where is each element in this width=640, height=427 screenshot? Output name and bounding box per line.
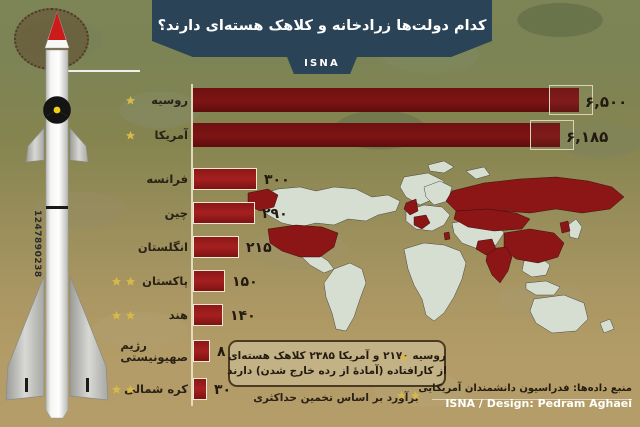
footnote-star-decoration bbox=[398, 352, 409, 363]
bar-1 bbox=[193, 88, 579, 112]
footnote-line-2: از کارافتاده (آمادهٔ از رده خارج شدن) دا… bbox=[227, 365, 447, 377]
nuclear-power-stars-2 bbox=[125, 130, 136, 141]
data-source-label: منبع داده‌ها: فدراسیون دانشمندان آمریکای… bbox=[418, 383, 632, 394]
bar-value-5: ۲۱۵ bbox=[246, 240, 272, 256]
country-label-7: هند bbox=[169, 309, 188, 321]
country-label-6: پاکستان bbox=[142, 275, 188, 287]
footnote-box: روسیه ۲۱۷۰ و آمریکا ۲۳۸۵ کلاهک هسته‌ای ا… bbox=[228, 340, 446, 387]
bar-value-3: ۳۰۰ bbox=[264, 172, 290, 188]
brand-tab: ISNA bbox=[285, 52, 359, 74]
star-icon bbox=[111, 384, 122, 395]
bar-9 bbox=[193, 378, 207, 400]
bar-2 bbox=[193, 123, 560, 147]
country-label-4: چین bbox=[165, 207, 188, 219]
world-map bbox=[238, 157, 640, 337]
missile-illustration: 1247890238 bbox=[0, 0, 115, 427]
country-label-5: انگلستان bbox=[138, 241, 188, 253]
bar-4 bbox=[193, 202, 255, 224]
star-icon bbox=[111, 276, 122, 287]
country-label-2: آمریکا bbox=[154, 129, 188, 141]
bar-6 bbox=[193, 270, 225, 292]
bar-value-4: ۲۹۰ bbox=[262, 206, 288, 222]
bar-3 bbox=[193, 168, 257, 190]
estimate-star-decoration bbox=[396, 390, 421, 401]
nuclear-power-stars-9 bbox=[111, 384, 136, 395]
nuclear-power-stars-1 bbox=[125, 95, 136, 106]
star-icon bbox=[111, 310, 122, 321]
star-icon bbox=[125, 276, 136, 287]
credits: منبع داده‌ها: فدراسیون دانشمندان آمریکای… bbox=[418, 383, 632, 410]
bar-8 bbox=[193, 340, 210, 362]
country-label-3: فرانسه bbox=[146, 173, 188, 185]
bar-5 bbox=[193, 236, 239, 258]
nuclear-power-stars-7 bbox=[111, 310, 136, 321]
star-icon bbox=[125, 95, 136, 106]
credits-divider bbox=[432, 399, 632, 400]
infographic-root: 1247890238 کدام دولت‌ها زرادخانه و کلاهک… bbox=[0, 0, 640, 427]
bar-value-6: ۱۵۰ bbox=[232, 274, 258, 290]
bar-value-7: ۱۴۰ bbox=[230, 308, 256, 324]
footnote-line-1: روسیه ۲۱۷۰ و آمریکا ۲۳۸۵ کلاهک هسته‌ای bbox=[228, 350, 446, 362]
bar-7 bbox=[193, 304, 223, 326]
bar-value-2: ۶,۱۸۵ bbox=[566, 128, 608, 146]
nuclear-power-stars-6 bbox=[111, 276, 136, 287]
star-icon bbox=[125, 310, 136, 321]
bar-value-1: ۶,۵۰۰ bbox=[585, 93, 627, 111]
title-banner: کدام دولت‌ها زرادخانه و کلاهک هسته‌ای دا… bbox=[152, 0, 492, 57]
missile-serial-number: 1247890238 bbox=[32, 210, 42, 270]
country-label-8: رژیمصهیونیستی bbox=[120, 339, 188, 363]
country-label-1: روسیه bbox=[151, 94, 188, 106]
bar-value-9: ۳۰ bbox=[214, 382, 231, 398]
star-icon bbox=[125, 384, 136, 395]
brand-label: ISNA bbox=[304, 58, 340, 69]
star-icon bbox=[125, 130, 136, 141]
page-title: کدام دولت‌ها زرادخانه و کلاهک هسته‌ای دا… bbox=[158, 18, 487, 34]
